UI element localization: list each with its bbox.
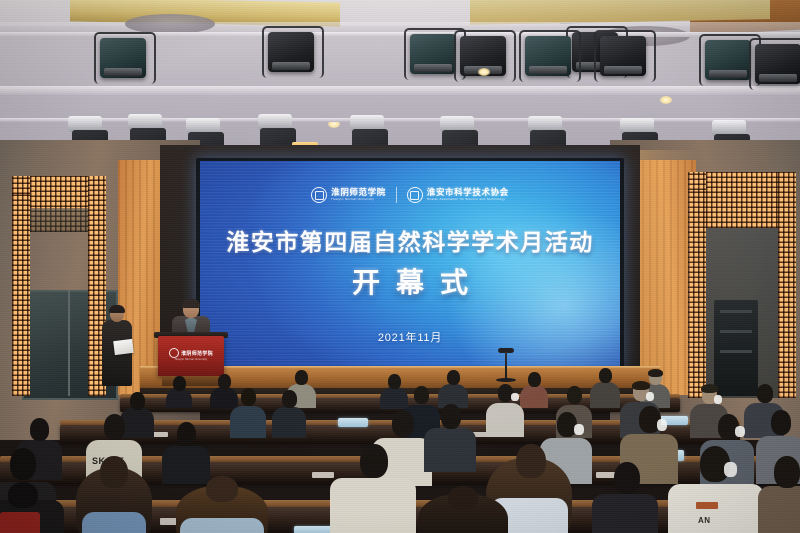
- par-can-light: [100, 38, 146, 78]
- red-clothing: [0, 512, 40, 533]
- audience-member: [438, 370, 468, 402]
- speaker-grille-line: [720, 330, 752, 333]
- par-can-light: [268, 32, 314, 72]
- audience-member: [230, 388, 266, 430]
- audience-member: [162, 422, 210, 472]
- par-can-light: [705, 40, 751, 80]
- audience-member: [520, 372, 548, 402]
- audience-member: [272, 390, 306, 430]
- audience-member: [76, 456, 152, 533]
- ceiling-air-vent: [125, 14, 215, 34]
- ceiling-beam-mid: [0, 86, 800, 95]
- par-can-light: [600, 36, 646, 76]
- auditorium-photo: 淮阴师范学院 Huaiyin Normal University 淮安市科学技术…: [0, 0, 800, 533]
- par-can-light: [755, 44, 800, 84]
- audience-member: [176, 476, 268, 533]
- audience-member: [486, 384, 524, 430]
- audience-member: [424, 404, 476, 462]
- audience-member: [590, 368, 620, 402]
- par-can-light: [525, 36, 571, 76]
- audience-member: [758, 456, 800, 533]
- par-can-light: [410, 34, 456, 74]
- audience-member: [330, 444, 416, 533]
- ceiling-downlight: [478, 68, 490, 76]
- audience-member: [418, 486, 508, 533]
- led-presentation-screen: 淮阴师范学院 Huaiyin Normal University 淮安市科学技术…: [200, 161, 620, 367]
- audience-member: AN: [668, 446, 764, 533]
- glasses-icon: [184, 307, 198, 311]
- audience-member: [592, 462, 658, 533]
- lattice-shadow-left: [30, 208, 88, 232]
- tablet-screen[interactable]: [294, 526, 334, 533]
- speaker-grille-line: [720, 310, 752, 313]
- screen-vignette: [200, 161, 620, 367]
- tshirt-patch: [696, 502, 718, 509]
- tshirt-graphic: AN: [698, 516, 711, 525]
- light-truss-rail-lower: [0, 118, 800, 122]
- audience-member: [166, 376, 192, 402]
- audience-area: SKATE: [0, 352, 800, 533]
- tablet-screen[interactable]: [338, 418, 368, 427]
- ceiling-downlight: [660, 96, 672, 104]
